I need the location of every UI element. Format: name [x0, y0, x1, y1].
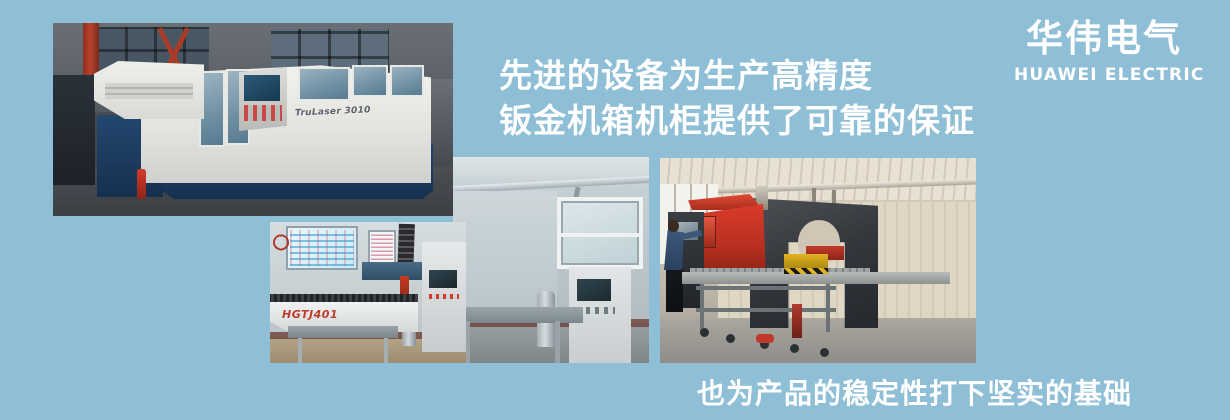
headline: 先进的设备为生产高精度 钣金机箱机柜提供了可靠的保证: [499, 53, 975, 143]
logo-chinese-name: 华伟电气: [1014, 18, 1194, 60]
headline-line-2: 钣金机箱机柜提供了可靠的保证: [499, 98, 975, 143]
cnc-machine-model-label: HGTJ401: [282, 308, 338, 321]
photo-bright-workshop-room: [453, 157, 649, 363]
tagline: 也为产品的稳定性打下坚实的基础: [697, 372, 1132, 412]
photo-cnc-turret-punch-press: [660, 158, 976, 363]
photo-laser-cutting-machine: TruLaser 3010: [53, 23, 453, 216]
photo-cnc-cutting-machine: HGTJ401: [270, 222, 466, 363]
logo-english-name: HUAWEI ELECTRIC: [1014, 65, 1194, 85]
headline-line-1: 先进的设备为生产高精度: [499, 53, 975, 98]
promo-banner: TruLaser 3010: [0, 0, 1230, 420]
company-logo: 华伟电气 HUAWEI ELECTRIC: [1014, 18, 1194, 85]
